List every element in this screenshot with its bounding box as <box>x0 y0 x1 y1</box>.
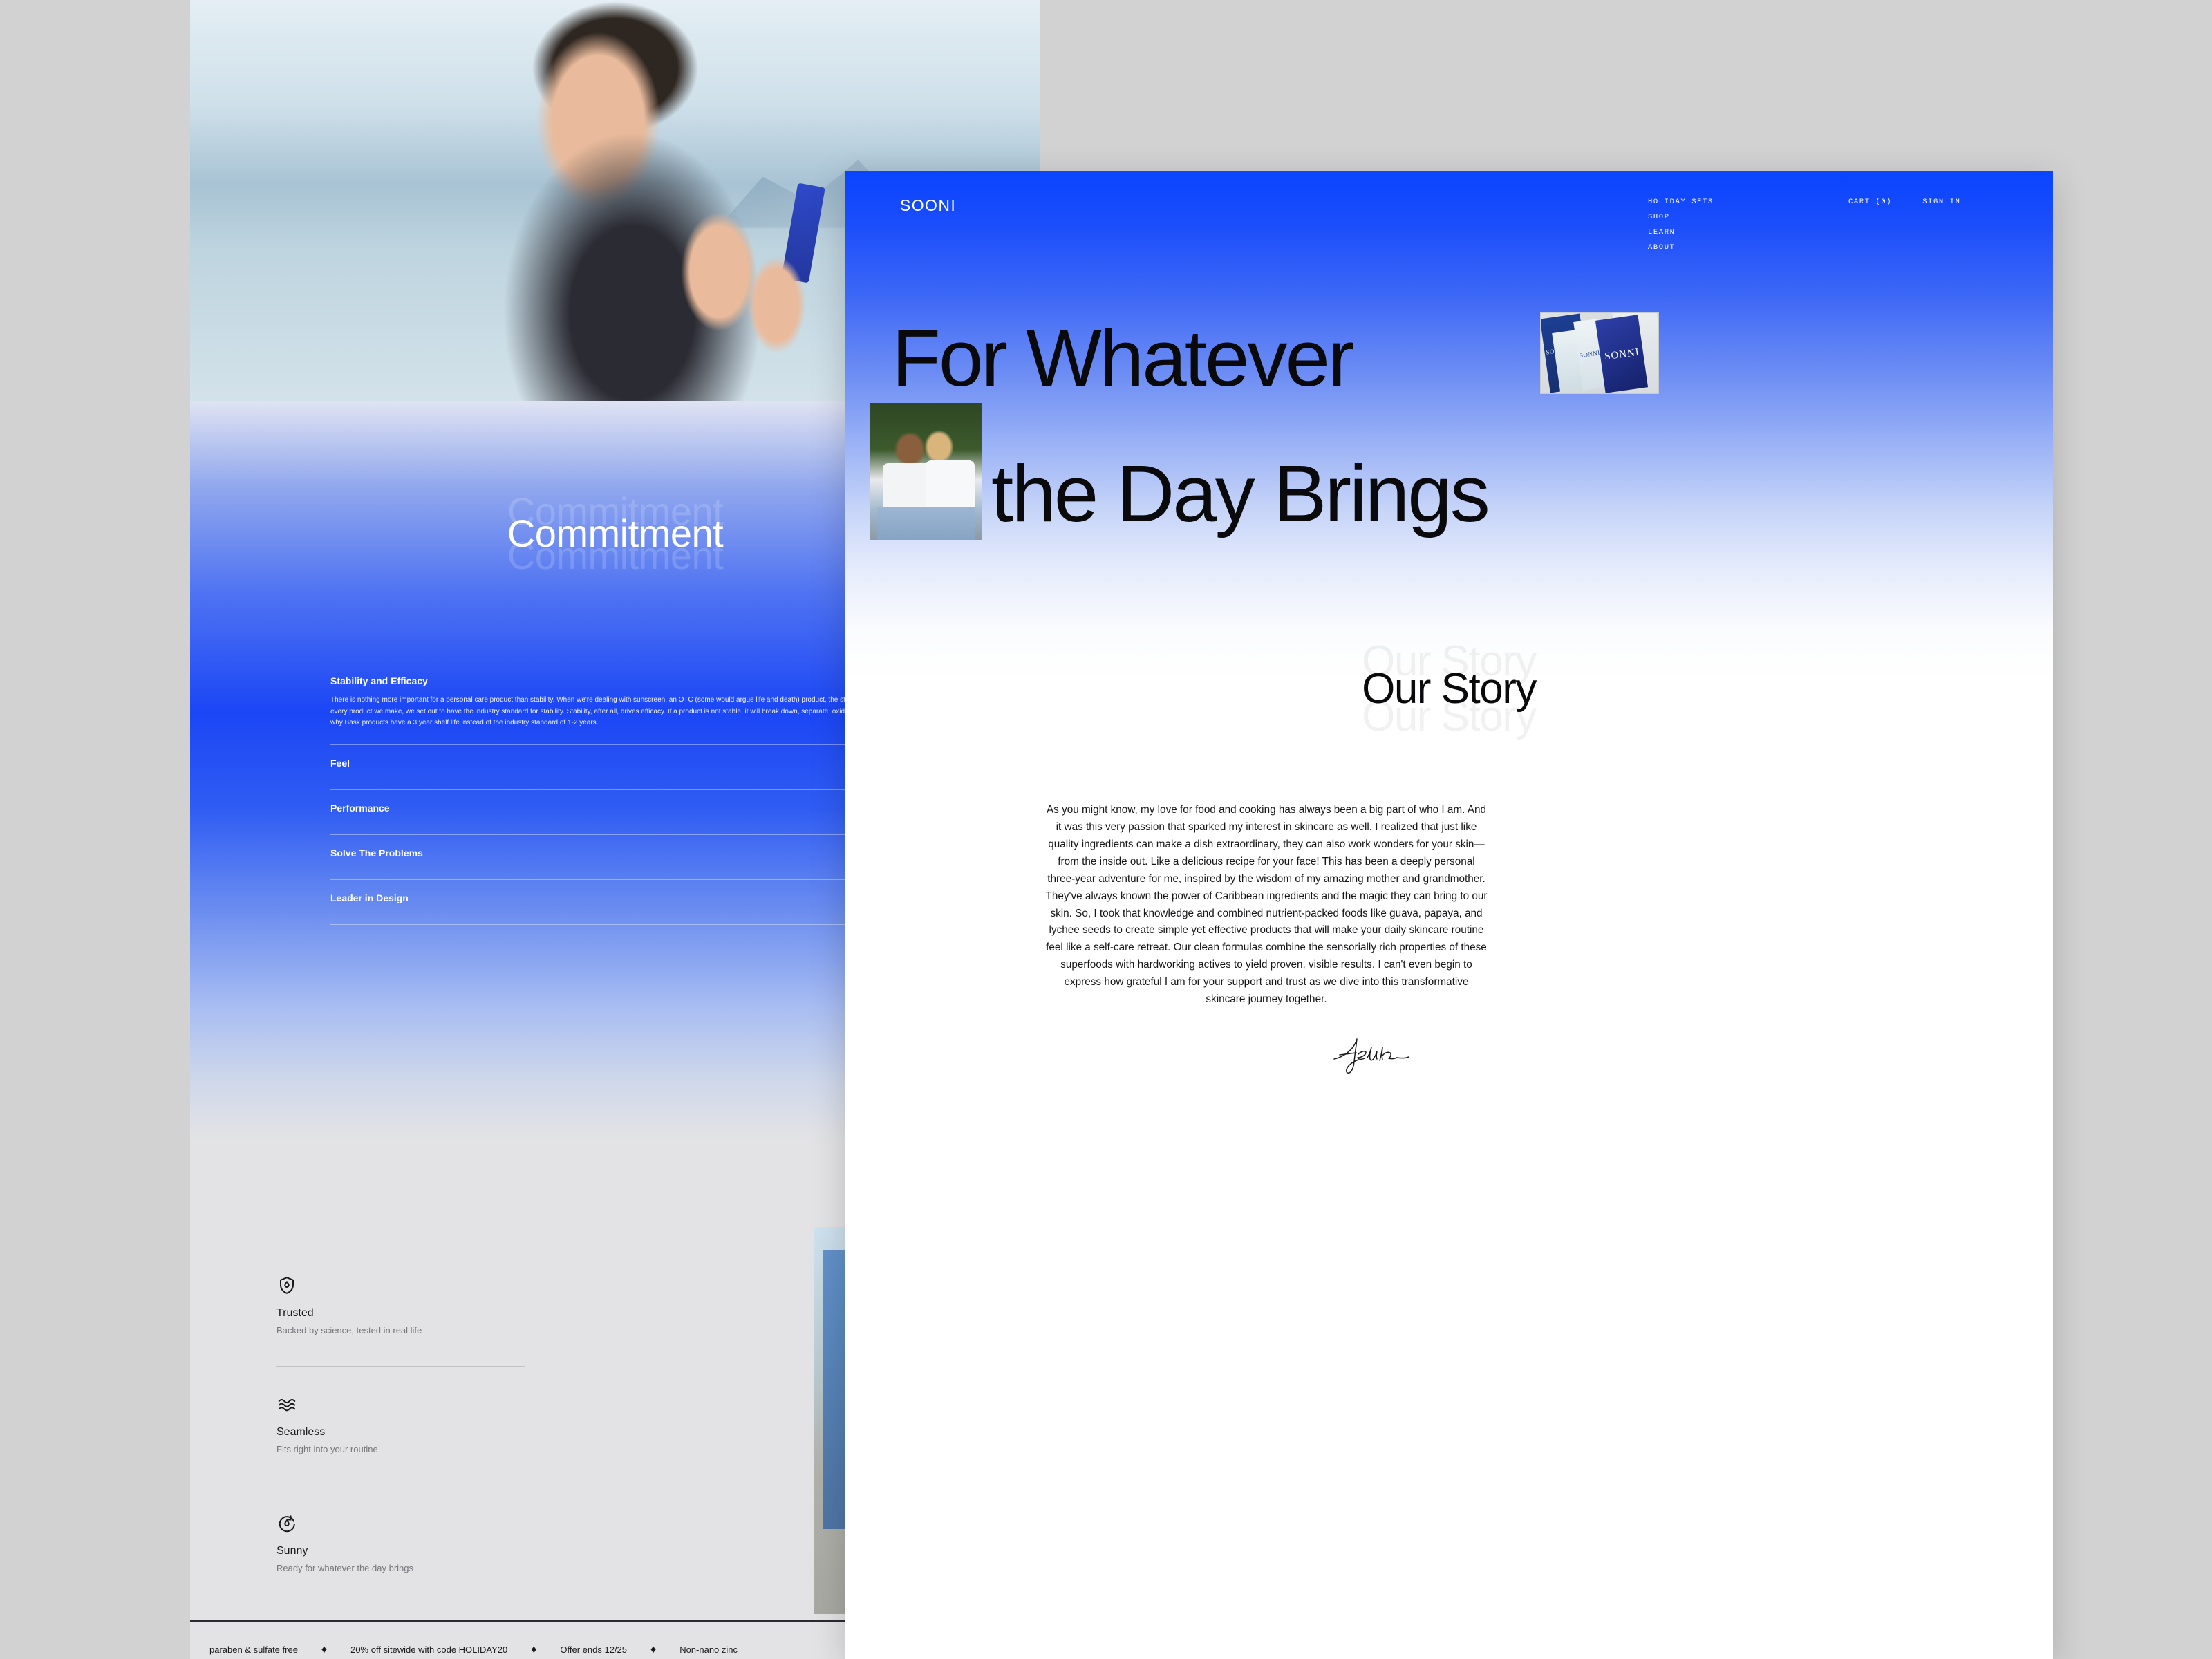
founder-signature <box>1322 1029 1418 1077</box>
feature-subtitle: Ready for whatever the day brings <box>276 1563 525 1573</box>
brand-logo[interactable]: SOONI <box>900 196 956 215</box>
feature-name: Seamless <box>276 1426 525 1438</box>
story-title-group: Our Story Our Story Our Story <box>845 655 2053 752</box>
feature-subtitle: Fits right into your routine <box>276 1444 525 1454</box>
shirt-left <box>883 463 932 512</box>
cart-link[interactable]: CART (0) <box>1848 198 1892 206</box>
ticker-separator-icon: ♦ <box>650 1644 656 1656</box>
feature-name: Trusted <box>276 1307 525 1320</box>
feature-item-trusted: Trusted Backed by science, tested in rea… <box>276 1275 525 1367</box>
feature-name: Sunny <box>276 1545 525 1557</box>
ticker-item: Non-nano zinc <box>679 1644 738 1655</box>
jeans <box>877 507 975 540</box>
ticker-item: Offer ends 12/25 <box>560 1644 627 1655</box>
ticker-separator-icon: ♦ <box>321 1644 327 1656</box>
nav-item-shop[interactable]: SHOP <box>1648 213 1714 221</box>
feature-subtitle: Backed by science, tested in real life <box>276 1325 525 1335</box>
ticker-separator-icon: ♦ <box>531 1644 536 1656</box>
hero-headline-line-2: the Day Brings <box>991 453 1488 534</box>
ticker-item: 20% off sitewide with code HOLIDAY20 <box>350 1644 507 1655</box>
nav-item-about[interactable]: ABOUT <box>1648 243 1714 252</box>
product-box-image: SONNI SONNI SONNI <box>1540 312 1659 394</box>
story-title-ghost-bottom: Our Story <box>845 695 2053 738</box>
product-brand-mark: SONNI <box>1604 346 1640 363</box>
ticker-item: paraben & sulfate free <box>190 1644 298 1655</box>
sign-in-link[interactable]: SIGN IN <box>1922 198 1960 206</box>
foreground-browser-window[interactable]: SOONI HOLIDAY SETS SHOP LEARN ABOUT CART… <box>845 171 2053 1659</box>
sunscreen-bottle <box>781 182 825 283</box>
feature-item-seamless: Seamless Fits right into your routine <box>276 1394 525 1485</box>
primary-nav: HOLIDAY SETS SHOP LEARN ABOUT <box>1648 198 1714 259</box>
nav-item-learn[interactable]: LEARN <box>1648 228 1714 236</box>
feature-item-sunny: Sunny Ready for whatever the day brings <box>276 1513 525 1604</box>
site-header: SOONI HOLIDAY SETS SHOP LEARN ABOUT CART… <box>845 171 2053 289</box>
hero-headline-line-1: For Whatever <box>892 318 1353 398</box>
utility-nav: CART (0) SIGN IN <box>1848 198 1961 206</box>
refresh-droplet-icon <box>276 1513 297 1534</box>
nav-item-holiday-sets[interactable]: HOLIDAY SETS <box>1648 198 1714 206</box>
waves-icon <box>276 1394 297 1415</box>
shield-droplet-icon <box>276 1275 297 1296</box>
story-paragraph: As you might know, my love for food and … <box>1045 802 1488 1009</box>
feature-list: Trusted Backed by science, tested in rea… <box>276 1275 525 1631</box>
product-brand-mark: SONNI <box>1579 349 1600 359</box>
founders-photo <box>870 403 982 540</box>
shirt-right <box>926 460 975 512</box>
